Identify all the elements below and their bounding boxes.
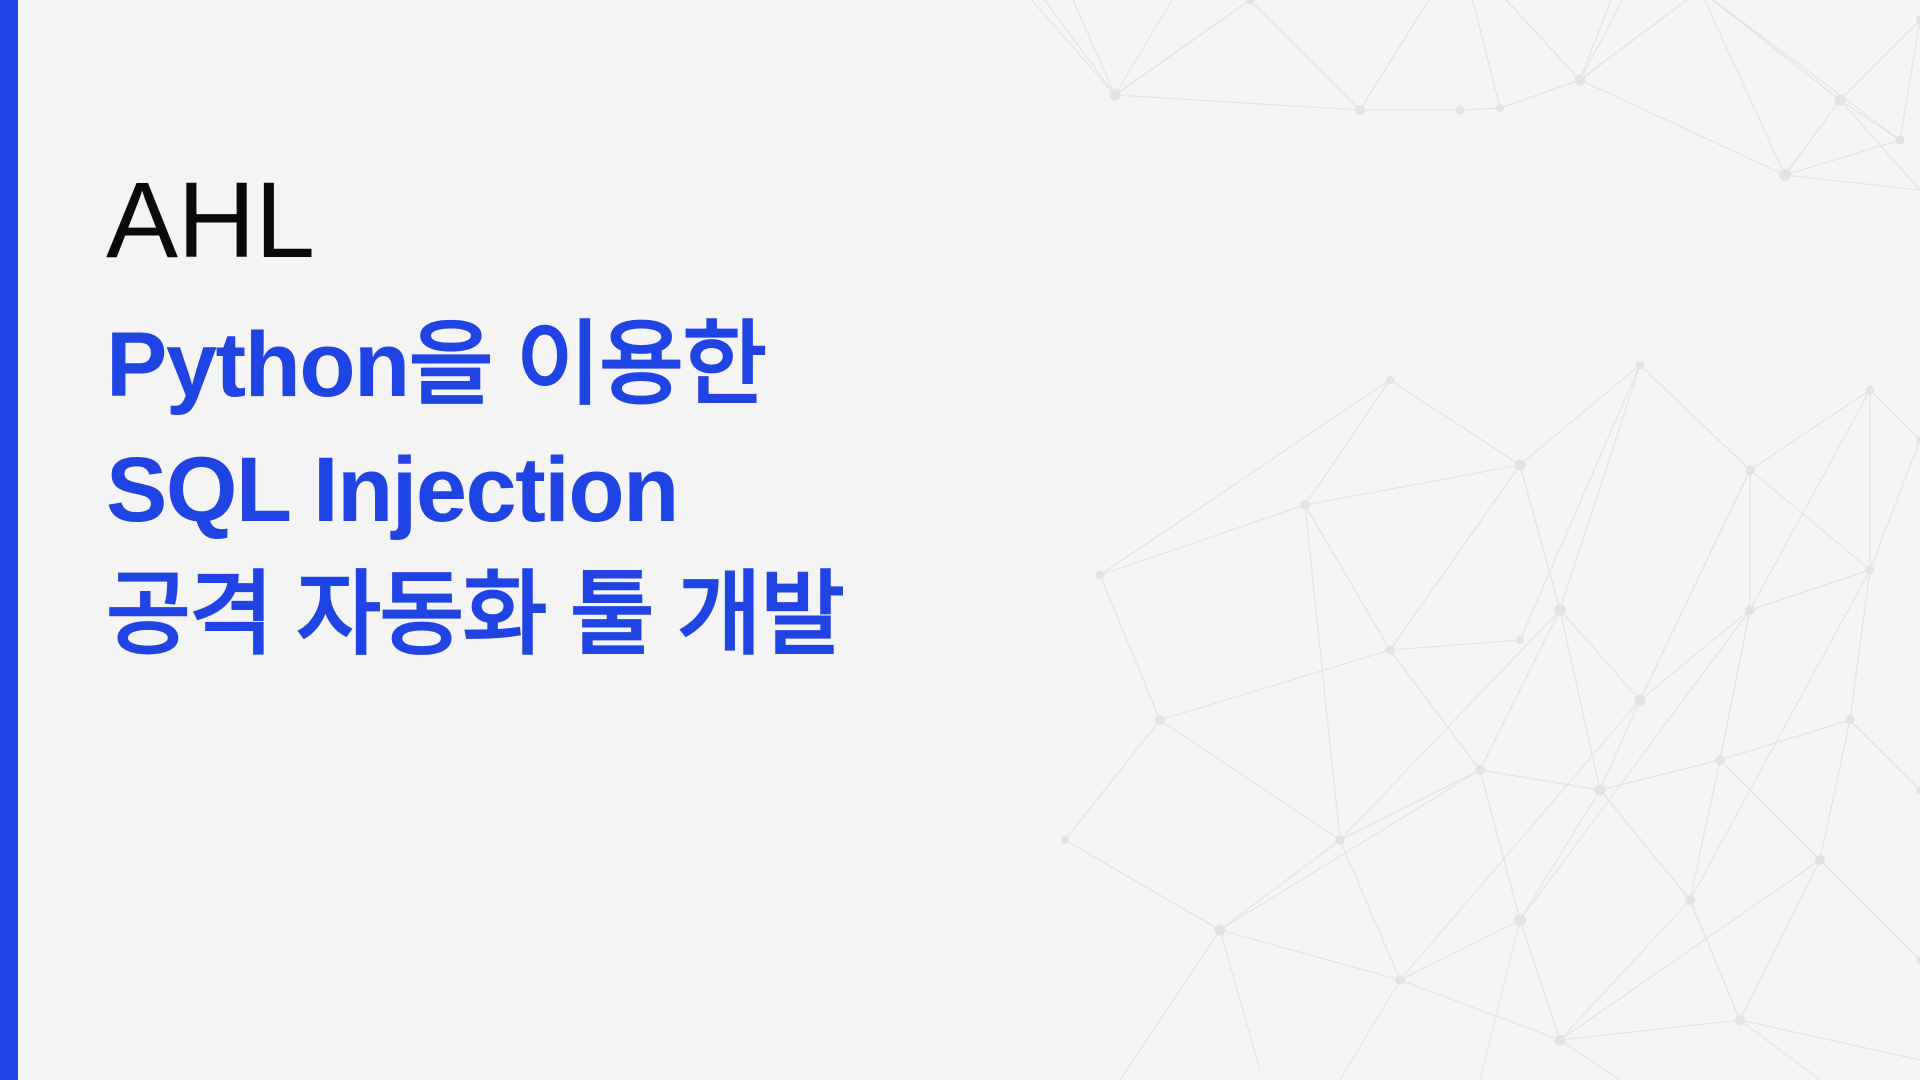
title-slide: AHL Python을 이용한 SQL Injection 공격 자동화 툴 개… — [0, 0, 1920, 1080]
title-block: AHL Python을 이용한 SQL Injection 공격 자동화 툴 개… — [106, 160, 1256, 678]
page-title-line-2: SQL Injection — [106, 428, 1256, 553]
page-title: Python을 이용한 SQL Injection 공격 자동화 툴 개발 — [106, 303, 1256, 678]
organization-label: AHL — [106, 160, 1256, 281]
left-accent-bar — [0, 0, 18, 1080]
page-title-line-3: 공격 자동화 툴 개발 — [106, 553, 1256, 678]
page-title-line-1: Python을 이용한 — [106, 303, 1256, 428]
